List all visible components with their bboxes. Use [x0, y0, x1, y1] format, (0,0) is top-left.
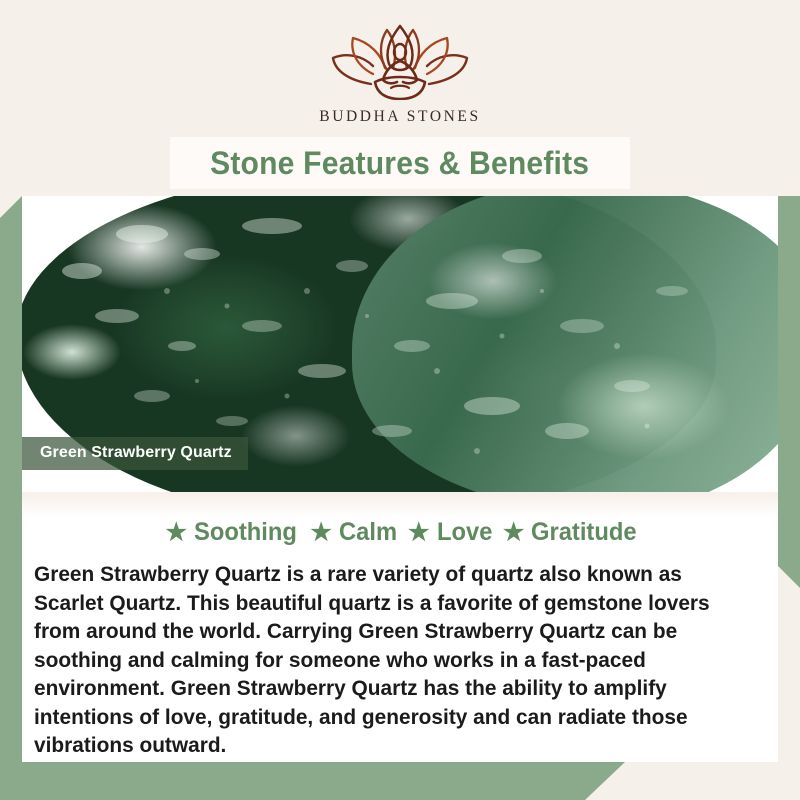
- feature-label: Soothing: [194, 518, 297, 547]
- star-icon: ★: [166, 521, 188, 545]
- feature-label: Love: [437, 518, 492, 547]
- feature-item-soothing: ★ Soothing: [158, 518, 303, 547]
- decor-band-left: [0, 196, 22, 772]
- star-icon: ★: [503, 521, 525, 545]
- brand-logo: BUDDHA STONES: [319, 22, 480, 126]
- stone-photo: Green Strawberry Quartz: [22, 196, 778, 492]
- page-title: Stone Features & Benefits: [210, 145, 589, 182]
- feature-label: Calm: [339, 518, 397, 547]
- decor-band-bottom: [0, 762, 625, 800]
- page-title-bar: Stone Features & Benefits: [170, 137, 630, 189]
- feature-item-calm: ★ Calm: [302, 518, 400, 547]
- feature-label: Gratitude: [531, 518, 637, 547]
- feature-item-love: ★ Love: [400, 518, 495, 547]
- photo-caption: Green Strawberry Quartz: [22, 437, 248, 470]
- card-top-fade: [22, 492, 778, 518]
- brand-name: BUDDHA STONES: [319, 108, 480, 126]
- header: BUDDHA STONES Stone Features & Benefits: [0, 0, 800, 196]
- star-icon: ★: [408, 521, 430, 545]
- content-card: ★ Soothing ★ Calm ★ Love ★ Gratitude Gre…: [22, 492, 778, 762]
- feature-list: ★ Soothing ★ Calm ★ Love ★ Gratitude: [22, 518, 778, 547]
- star-icon: ★: [310, 521, 332, 545]
- lotus-meditation-icon: [325, 22, 475, 100]
- feature-item-gratitude: ★ Gratitude: [495, 518, 643, 547]
- description-text: Green Strawberry Quartz is a rare variet…: [34, 560, 754, 760]
